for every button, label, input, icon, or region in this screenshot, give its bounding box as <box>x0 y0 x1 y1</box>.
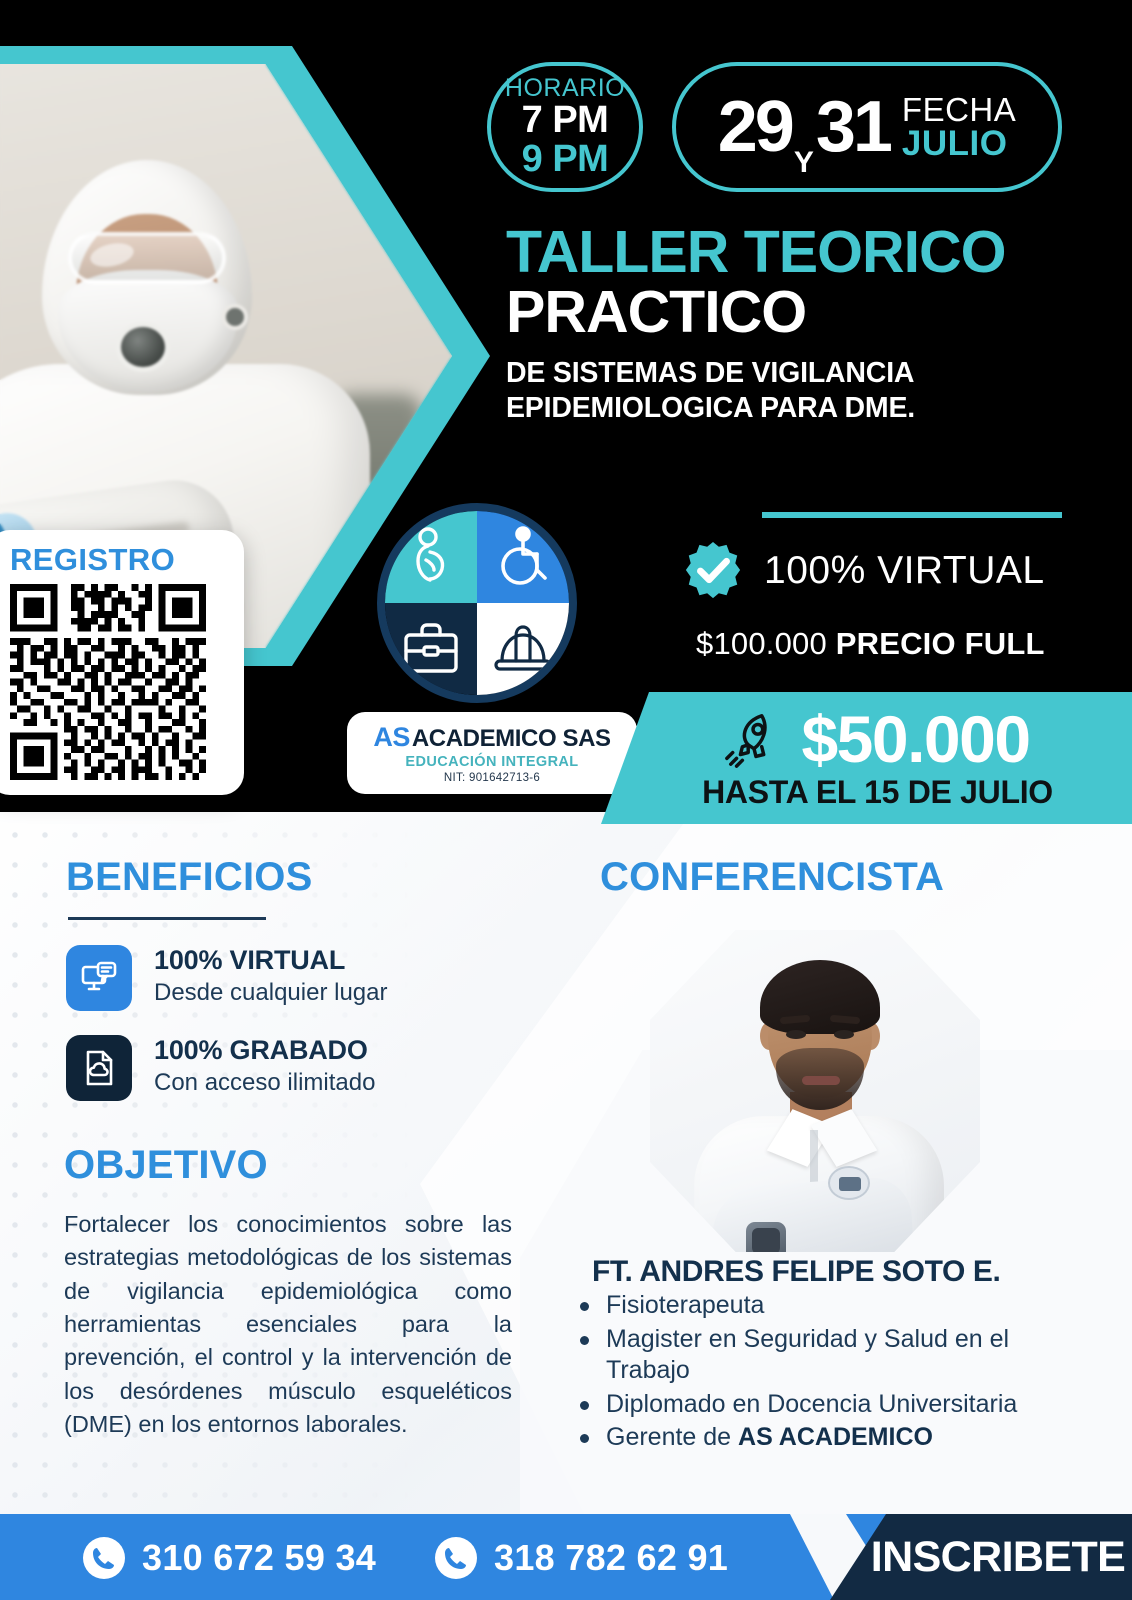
date-day-1: 29 <box>718 91 792 163</box>
rocket-icon <box>723 708 785 770</box>
date-month: JULIO <box>902 126 1016 161</box>
speaker-photo <box>650 930 980 1252</box>
full-price-amount: $100.000 <box>696 626 827 661</box>
credential-prefix: Gerente de <box>606 1423 738 1451</box>
main-title-block: TALLER TEORICO PRACTICO DE SISTEMAS DE V… <box>506 222 1086 426</box>
full-price-row: $100.000 PRECIO FULL <box>696 626 1045 662</box>
list-item: Diplomado en Docencia Universitaria <box>570 1389 1070 1421</box>
phone-number-1: 310 672 59 34 <box>142 1537 376 1579</box>
conferencista-heading: CONFERENCISTA <box>600 855 944 900</box>
speaker-name: FT. ANDRES FELIPE SOTO E. <box>592 1255 1000 1289</box>
registro-label: REGISTRO <box>10 542 228 578</box>
benefit-description: Desde cualquier lugar <box>154 979 387 1008</box>
registro-card[interactable]: REGISTRO <box>0 530 244 795</box>
virtual-badge-label: 100% VIRTUAL <box>764 549 1045 593</box>
schedule-start-time: 7 PM <box>522 101 609 140</box>
date-day-2: 31 <box>816 91 890 163</box>
beneficios-divider <box>68 917 266 920</box>
promo-price-amount: $50.000 <box>801 706 1029 772</box>
phone-icon <box>434 1536 478 1580</box>
credential-bold: AS ACADEMICO <box>738 1423 933 1451</box>
benefit-title: 100% GRABADO <box>154 1035 375 1066</box>
schedule-end-time: 9 PM <box>522 140 609 179</box>
date-pill: 29 Y 31 FECHA JULIO <box>672 62 1062 192</box>
inscribete-label: INSCRIBETE <box>871 1533 1125 1582</box>
brand-tagline: EDUCACIÓN INTEGRAL <box>405 754 578 770</box>
list-item: Magister en Seguridad y Salud en el Trab… <box>570 1324 1070 1387</box>
contact-phone-2[interactable]: 318 782 62 91 <box>434 1536 728 1580</box>
list-item: Gerente de AS ACADEMICO <box>570 1422 1070 1454</box>
brand-name: ACADEMICO SAS <box>412 725 611 753</box>
flyer-poster: HORARIO 7 PM 9 PM 29 Y 31 FECHA JULIO TA… <box>0 0 1132 1600</box>
benefit-item-virtual: 100% VIRTUAL Desde cualquier lugar <box>66 945 387 1011</box>
schedule-pill: HORARIO 7 PM 9 PM <box>487 62 643 192</box>
organization-logo-circle <box>377 503 577 703</box>
objetivo-text: Fortalecer los conocimientos sobre las e… <box>64 1208 512 1442</box>
objetivo-heading: OBJETIVO <box>64 1143 268 1188</box>
phone-number-2: 318 782 62 91 <box>494 1537 728 1579</box>
brand-nit: NIT: 901642713-6 <box>444 772 540 784</box>
title-line-1: TALLER TEORICO <box>506 222 1086 282</box>
title-line-2: PRACTICO <box>506 282 1086 342</box>
speaker-credentials-list: Fisioterapeuta Magister en Seguridad y S… <box>570 1290 1070 1456</box>
screen-chat-icon <box>66 945 132 1011</box>
benefit-description: Con acceso ilimitado <box>154 1069 375 1098</box>
beneficios-heading: BENEFICIOS <box>66 855 312 900</box>
virtual-badge-row: 100% VIRTUAL <box>682 540 1045 602</box>
organization-name-card: AS ACADEMICO SAS EDUCACIÓN INTEGRAL NIT:… <box>347 712 637 794</box>
document-cloud-icon <box>66 1035 132 1101</box>
verified-check-icon <box>682 540 744 602</box>
list-item: Fisioterapeuta <box>570 1290 1070 1322</box>
title-subtitle: DE SISTEMAS DE VIGILANCIA EPIDEMIOLOGICA… <box>506 356 1086 426</box>
brand-prefix: AS <box>373 722 410 753</box>
promo-deadline: HASTA EL 15 DE JULIO <box>702 774 1053 811</box>
full-price-label: PRECIO FULL <box>836 626 1045 661</box>
benefit-item-recorded: 100% GRABADO Con acceso ilimitado <box>66 1035 375 1101</box>
qr-code[interactable] <box>10 584 206 780</box>
phone-icon <box>82 1536 126 1580</box>
date-label: FECHA <box>902 93 1016 126</box>
schedule-label: HORARIO <box>505 76 625 101</box>
date-conjunction: Y <box>792 146 816 180</box>
contact-phone-1[interactable]: 310 672 59 34 <box>82 1536 376 1580</box>
benefit-title: 100% VIRTUAL <box>154 945 387 976</box>
teal-divider-rule <box>762 512 1062 518</box>
promo-price-banner: $50.000 HASTA EL 15 DE JULIO <box>601 692 1132 824</box>
